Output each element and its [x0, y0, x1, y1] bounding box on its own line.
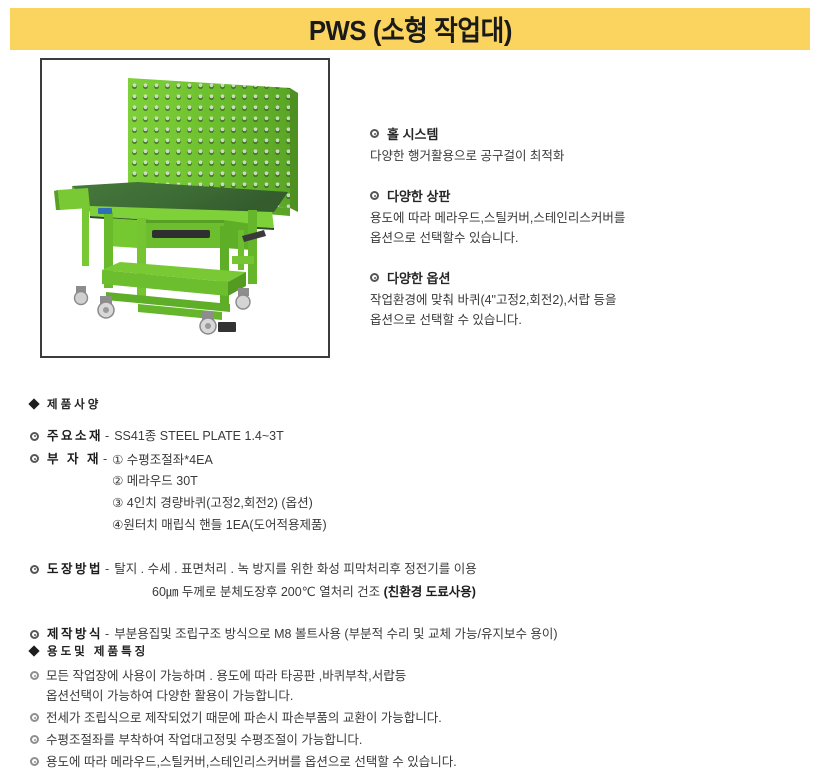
sub-material-item: ④원터치 매립식 핸들 1EA(도어적용제품): [112, 515, 327, 536]
spec-value-list: ① 수평조절좌*4EA ② 메라우드 30T ③ 4인치 경량바퀴(고정2,회전…: [112, 449, 327, 536]
spec-continuation-emphasis: (친환경 도료사용): [384, 585, 476, 599]
spec-row-main-material: 주요소재 - SS41종 STEEL PLATE 1.4~3T: [30, 426, 800, 447]
feature-line: 옵션으로 선택할 수 있습니다.: [370, 311, 800, 330]
feature-body: 다양한 행거활용으로 공구걸이 최적화: [370, 147, 800, 166]
ring-bullet-icon: [30, 432, 39, 441]
specifications-section: 제품사양 주요소재 - SS41종 STEEL PLATE 1.4~3T 부 자…: [30, 396, 800, 647]
feature-line: 용도에 따라 메라우드,스틸커버,스테인리스커버를: [370, 209, 800, 228]
spec-label: 주요소재 -: [30, 426, 114, 447]
spec-continuation-text: 60㎛ 두께로 분체도장후 200℃ 열처리 건조: [152, 585, 384, 599]
usage-item-text: 수평조절좌를 부착하여 작업대고정및 수평조절이 가능합니다.: [46, 730, 362, 750]
ring-bullet-icon: [30, 735, 39, 744]
usage-line: 모든 작업장에 사용이 가능하며 . 용도에 따라 타공판 ,바퀴부착,서랍등: [46, 666, 406, 686]
usage-section: 용도및 제품특징 모든 작업장에 사용이 가능하며 . 용도에 따라 타공판 ,…: [30, 643, 800, 774]
feature-heading: 다양한 옵션: [370, 268, 800, 287]
spec-dash: -: [105, 624, 109, 645]
spec-label: 부 자 재 -: [30, 449, 112, 470]
ring-bullet-icon: [30, 757, 39, 766]
spec-dash: -: [105, 559, 109, 580]
spacer: [30, 602, 800, 624]
spec-label-text: 도장방법: [47, 559, 103, 580]
product-photo: [42, 60, 328, 356]
usage-item: 전세가 조립식으로 제작되었기 때문에 파손시 파손부품의 교환이 가능합니다.: [30, 708, 800, 728]
spec-continuation-line: 60㎛ 두께로 분체도장후 200℃ 열처리 건조 (친환경 도료사용): [152, 582, 800, 603]
sub-material-item: ③ 4인치 경량바퀴(고정2,회전2) (옵션): [112, 493, 327, 514]
usage-section-heading-text: 용도및 제품특징: [47, 643, 148, 659]
feature-block-1: 다양한 상판 용도에 따라 메라우드,스틸커버,스테인리스커버를 옵션으로 선택…: [370, 186, 800, 248]
feature-heading: 홀 시스템: [370, 124, 800, 143]
feature-heading-text: 홀 시스템: [387, 124, 438, 143]
feature-line: 옵션으로 선택할수 있습니다.: [370, 229, 800, 248]
spec-value: 부분용집및 조립구조 방식으로 M8 볼트사용 (부분적 수리 및 교체 가능/…: [114, 624, 557, 645]
feature-block-0: 홀 시스템 다양한 행거활용으로 공구걸이 최적화: [370, 124, 800, 166]
feature-line: 작업환경에 맞춰 바퀴(4"고정2,회전2),서랍 등을: [370, 291, 800, 310]
spec-label-text: 부 자 재: [47, 449, 101, 470]
spec-dash: -: [103, 449, 107, 470]
spec-section-heading-text: 제품사양: [47, 396, 101, 412]
usage-section-heading: 용도및 제품특징: [30, 643, 800, 659]
ring-bullet-icon: [30, 454, 39, 463]
spec-dash: -: [105, 426, 109, 447]
ring-bullet-icon: [30, 630, 39, 639]
usage-item: 모든 작업장에 사용이 가능하며 . 용도에 따라 타공판 ,바퀴부착,서랍등 …: [30, 666, 800, 706]
ring-bullet-icon: [30, 713, 39, 722]
ring-bullet-icon: [370, 191, 379, 200]
sub-material-item: ① 수평조절좌*4EA: [112, 450, 327, 471]
usage-item-text: 전세가 조립식으로 제작되었기 때문에 파손시 파손부품의 교환이 가능합니다.: [46, 708, 442, 728]
ring-bullet-icon: [370, 273, 379, 282]
usage-item: 용도에 따라 메라우드,스틸커버,스테인리스커버를 옵션으로 선택할 수 있습니…: [30, 752, 800, 772]
usage-item-text: 모든 작업장에 사용이 가능하며 . 용도에 따라 타공판 ,바퀴부착,서랍등 …: [46, 666, 406, 706]
ring-bullet-icon: [30, 565, 39, 574]
page-title: PWS (소형 작업대): [308, 9, 511, 49]
product-photo-frame: [40, 58, 330, 358]
spec-label: 제작방식 -: [30, 624, 114, 645]
feature-heading: 다양한 상판: [370, 186, 800, 205]
feature-heading-text: 다양한 옵션: [387, 268, 450, 287]
spacer: [30, 537, 800, 559]
feature-heading-text: 다양한 상판: [387, 186, 450, 205]
spec-value: 탈지 . 수세 . 표면처리 . 녹 방지를 위한 화성 피막처리후 정전기를 …: [114, 559, 477, 580]
spec-row-sub-material: 부 자 재 - ① 수평조절좌*4EA ② 메라우드 30T ③ 4인치 경량바…: [30, 449, 800, 536]
diamond-bullet-icon: [28, 398, 39, 409]
feature-body: 용도에 따라 메라우드,스틸커버,스테인리스커버를 옵션으로 선택할수 있습니다…: [370, 209, 800, 248]
usage-item-text: 용도에 따라 메라우드,스틸커버,스테인리스커버를 옵션으로 선택할 수 있습니…: [46, 752, 457, 772]
spec-row-manufacturing-method: 제작방식 - 부분용집및 조립구조 방식으로 M8 볼트사용 (부분적 수리 및…: [30, 624, 800, 645]
feature-list: 홀 시스템 다양한 행거활용으로 공구걸이 최적화 다양한 상판 용도에 따라 …: [370, 124, 800, 350]
spec-label-text: 주요소재: [47, 426, 103, 447]
usage-item: 수평조절좌를 부착하여 작업대고정및 수평조절이 가능합니다.: [30, 730, 800, 750]
usage-line: 용도에 따라 메라우드,스틸커버,스테인리스커버를 옵션으로 선택할 수 있습니…: [46, 752, 457, 772]
title-banner: PWS (소형 작업대): [10, 8, 810, 50]
spec-label: 도장방법 -: [30, 559, 114, 580]
feature-block-2: 다양한 옵션 작업환경에 맞춰 바퀴(4"고정2,회전2),서랍 등을 옵션으로…: [370, 268, 800, 330]
spec-section-heading: 제품사양: [30, 396, 800, 412]
sub-material-item: ② 메라우드 30T: [112, 471, 327, 492]
usage-line: 수평조절좌를 부착하여 작업대고정및 수평조절이 가능합니다.: [46, 730, 362, 750]
feature-line: 다양한 행거활용으로 공구걸이 최적화: [370, 147, 800, 166]
spec-value: SS41종 STEEL PLATE 1.4~3T: [114, 426, 284, 447]
feature-body: 작업환경에 맞춰 바퀴(4"고정2,회전2),서랍 등을 옵션으로 선택할 수 …: [370, 291, 800, 330]
spec-label-text: 제작방식: [47, 624, 103, 645]
ring-bullet-icon: [30, 671, 39, 680]
diamond-bullet-icon: [28, 645, 39, 656]
usage-line: 옵션선택이 가능하여 다양한 활용이 가능합니다.: [46, 686, 406, 706]
usage-line: 전세가 조립식으로 제작되었기 때문에 파손시 파손부품의 교환이 가능합니다.: [46, 708, 442, 728]
hero-section: 홀 시스템 다양한 행거활용으로 공구걸이 최적화 다양한 상판 용도에 따라 …: [0, 56, 820, 368]
spec-row-painting-method: 도장방법 - 탈지 . 수세 . 표면처리 . 녹 방지를 위한 화성 피막처리…: [30, 559, 800, 580]
ring-bullet-icon: [370, 129, 379, 138]
